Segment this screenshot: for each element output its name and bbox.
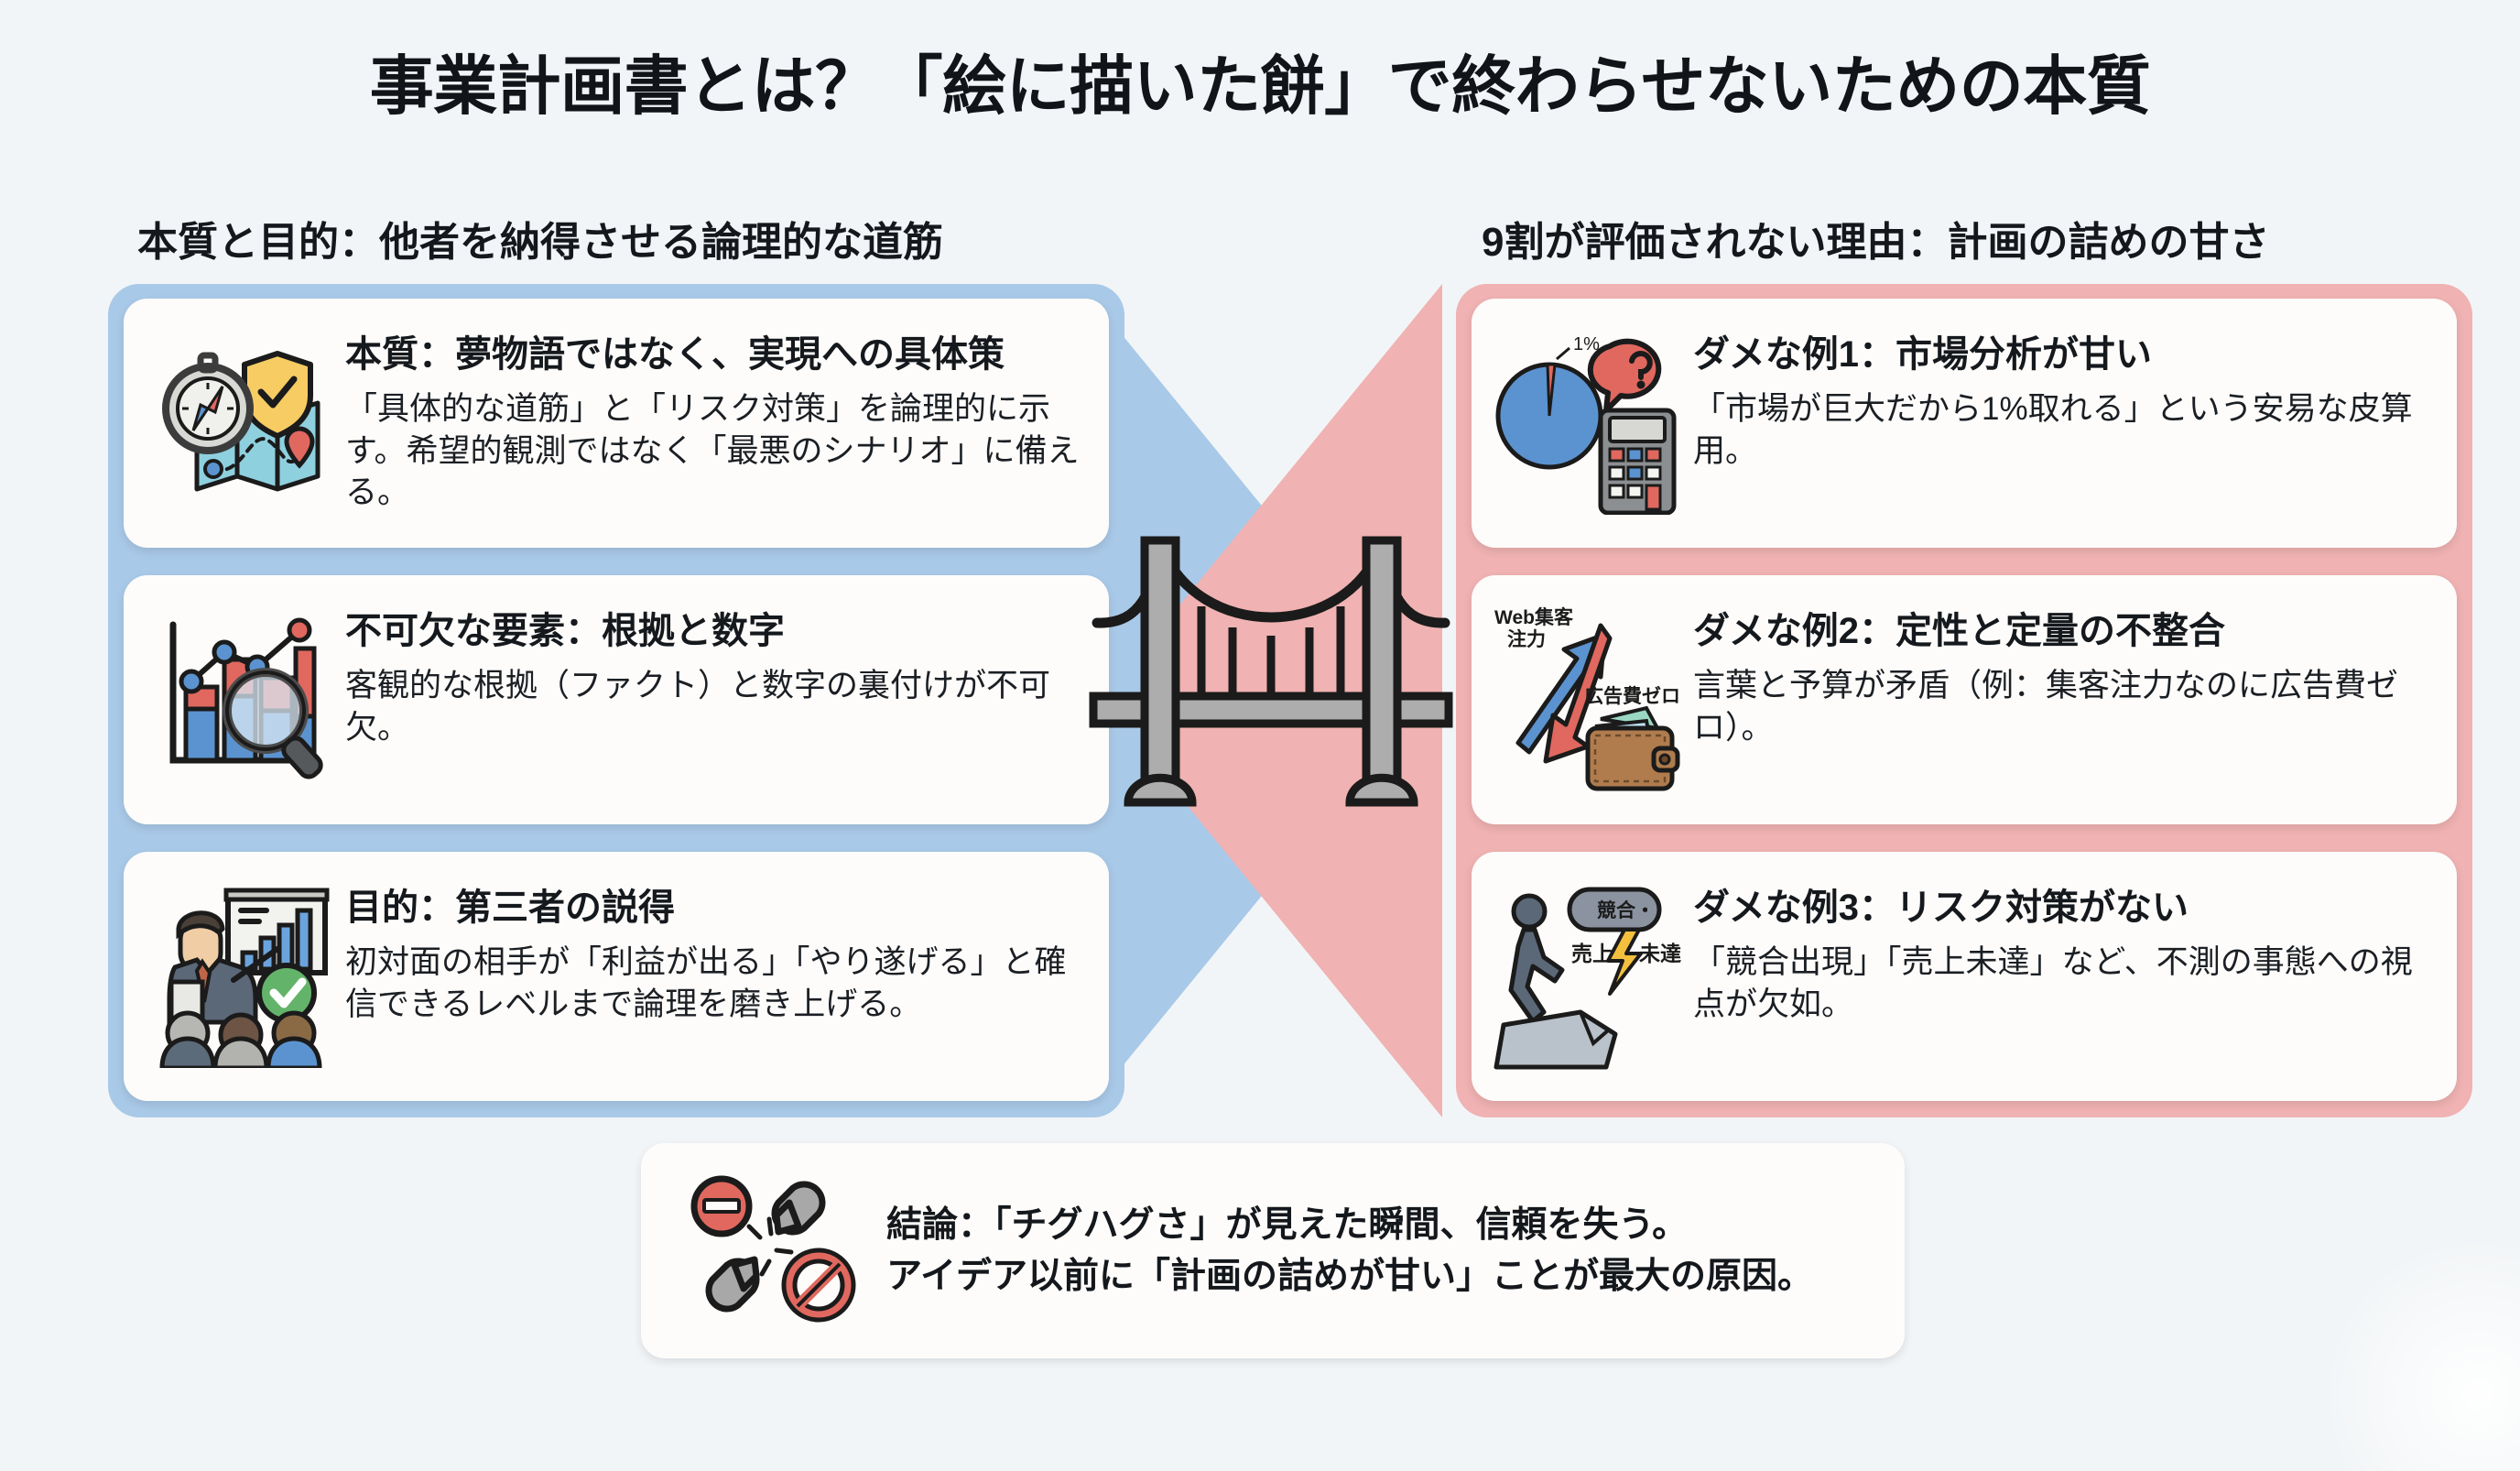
page-title: 事業計画書とは？「絵に描いた餅」で終わらせないための本質: [0, 35, 2520, 127]
ad-zero-label: 広告費ゼロ: [1584, 685, 1680, 707]
left-panel: 本質：夢物語ではなく、実現への具体策 「具体的な道筋」と「リスク対策」を論理的に…: [108, 284, 1124, 1117]
person-cliff-storm-icon: 競合・ 売上 未達: [1492, 872, 1686, 1081]
left-card-2-desc: 客観的な根拠（ファクト）と数字の裏付けが不可欠。: [345, 665, 1085, 748]
right-card-2[interactable]: Web集客 注力 広告費ゼロ ダメな例2：定性と定量の不整合 言葉と予算が矛盾（…: [1472, 575, 2457, 824]
right-card-1-title: ダメな例1：市場分析が甘い: [1693, 324, 2433, 377]
corner-glow-decoration: [2300, 1215, 2520, 1471]
right-card-3[interactable]: 競合・ 売上 未達 ダメな例3：リスク対策がない 「競合出現」「売上未達」など、…: [1472, 852, 2457, 1101]
left-card-1[interactable]: 本質：夢物語ではなく、実現への具体策 「具体的な道筋」と「リスク対策」を論理的に…: [124, 299, 1109, 548]
right-card-3-desc: 「競合出現」「売上未達」など、不測の事態への視点が欠如。: [1693, 942, 2433, 1025]
right-card-2-body: ダメな例2：定性と定量の不整合 言葉と予算が矛盾（例：集客注力なのに広告費ゼロ）…: [1686, 595, 2433, 748]
miss-label: 未達: [1639, 942, 1681, 965]
right-card-2-desc: 言葉と予算が矛盾（例：集客注力なのに広告費ゼロ）。: [1693, 665, 2433, 748]
right-card-1[interactable]: 1% ダメな例1：市場分析が甘: [1472, 299, 2457, 548]
right-card-1-body: ダメな例1：市場分析が甘い 「市場が巨大だから1%取れる」という安易な皮算用。: [1686, 319, 2433, 472]
left-card-2-body: 不可欠な要素：根拠と数字 客観的な根拠（ファクト）と数字の裏付けが不可欠。: [338, 595, 1085, 748]
left-card-2[interactable]: 不可欠な要素：根拠と数字 客観的な根拠（ファクト）と数字の裏付けが不可欠。: [124, 575, 1109, 824]
right-card-2-title: ダメな例2：定性と定量の不整合: [1693, 601, 2433, 654]
conclusion-line-2: アイデア以前に「計画の詰めが甘い」ことが最大の原因。: [886, 1251, 1813, 1302]
right-card-3-title: ダメな例3：リスク対策がない: [1693, 877, 2433, 931]
left-card-3-title: 目的：第三者の説得: [345, 877, 1085, 931]
right-column-heading: 9割が評価されない理由：計画の詰めの甘さ: [1482, 209, 2269, 267]
left-card-1-title: 本質：夢物語ではなく、実現への具体策: [345, 324, 1085, 377]
web-focus-label-line1: Web集客: [1494, 606, 1574, 628]
crossed-arrows-wallet-icon: Web集客 注力 広告費ゼロ: [1492, 595, 1686, 804]
broken-chain-prohibited-icon: [672, 1160, 874, 1343]
right-card-1-desc: 「市場が巨大だから1%取れる」という安易な皮算用。: [1693, 388, 2433, 472]
left-card-1-body: 本質：夢物語ではなく、実現への具体策 「具体的な道筋」と「リスク対策」を論理的に…: [338, 319, 1085, 514]
presentation-audience-check-icon: [144, 872, 338, 1081]
left-card-3-desc: 初対面の相手が「利益が出る」「やり遂げる」と確信できるレベルまで論理を磨き上げる…: [345, 942, 1085, 1025]
competitor-label: 競合・: [1597, 899, 1655, 921]
bar-chart-magnifier-icon: [144, 595, 338, 804]
left-card-1-desc: 「具体的な道筋」と「リスク対策」を論理的に示す。希望的観測ではなく「最悪のシナリ…: [345, 388, 1085, 514]
conclusion-card[interactable]: 結論：「チグハグさ」が見えた瞬間、信頼を失う。 アイデア以前に「計画の詰めが甘い…: [641, 1143, 1905, 1358]
right-panel: 1% ダメな例1：市場分析が甘: [1456, 284, 2472, 1117]
left-card-3[interactable]: 目的：第三者の説得 初対面の相手が「利益が出る」「やり遂げる」と確信できるレベル…: [124, 852, 1109, 1101]
conclusion-line-1: 結論：「チグハグさ」が見えた瞬間、信頼を失う。: [886, 1200, 1813, 1250]
left-card-2-title: 不可欠な要素：根拠と数字: [345, 601, 1085, 654]
left-column-heading: 本質と目的：他者を納得させる論理的な道筋: [137, 209, 943, 267]
compass-map-shield-icon: [144, 319, 338, 528]
pie-chart-calculator-question-icon: 1%: [1492, 319, 1686, 528]
right-card-3-body: ダメな例3：リスク対策がない 「競合出現」「売上未達」など、不測の事態への視点が…: [1686, 872, 2433, 1025]
left-card-3-body: 目的：第三者の説得 初対面の相手が「利益が出る」「やり遂げる」と確信できるレベル…: [338, 872, 1085, 1025]
web-focus-label-line2: 注力: [1507, 628, 1546, 650]
conclusion-text: 結論：「チグハグさ」が見えた瞬間、信頼を失う。 アイデア以前に「計画の詰めが甘い…: [874, 1200, 1813, 1302]
suspension-bridge-icon: [1088, 513, 1454, 879]
